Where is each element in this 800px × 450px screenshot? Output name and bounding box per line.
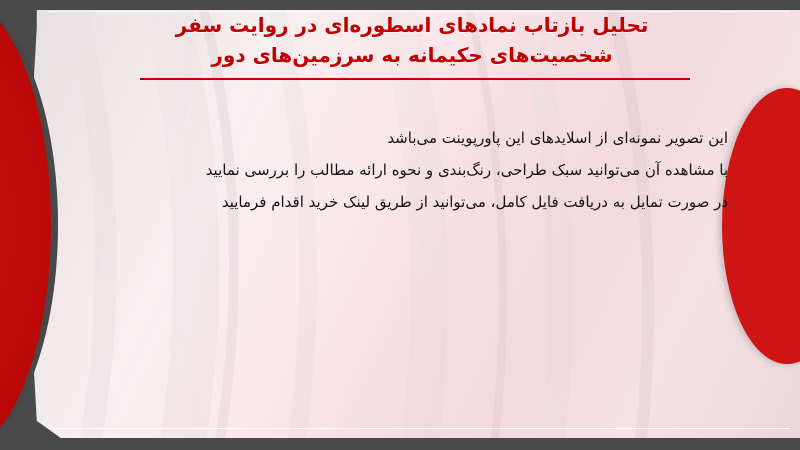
- title-line-1: تحلیل بازتاب نمادهای اسطوره‌ای در روایت …: [132, 10, 692, 40]
- slide-body-text: این تصویر نمونه‌ای از اسلایدهای این پاور…: [88, 122, 728, 218]
- title-line-2: شخصیت‌های حکیمانه به سرزمین‌های دور: [132, 40, 692, 70]
- body-line-1: این تصویر نمونه‌ای از اسلایدهای این پاور…: [88, 122, 728, 154]
- slide-background: [0, 10, 800, 438]
- body-line-3: در صورت تمایل به دریافت فایل کامل، می‌تو…: [88, 186, 728, 218]
- body-line-2: با مشاهده آن می‌توانید سبک طراحی، رنگ‌بن…: [88, 154, 728, 186]
- background-arc-pattern: [0, 10, 800, 438]
- slide-title: تحلیل بازتاب نمادهای اسطوره‌ای در روایت …: [132, 10, 692, 70]
- presentation-slide: تحلیل بازتاب نمادهای اسطوره‌ای در روایت …: [0, 0, 800, 450]
- title-underline-rule: [140, 78, 690, 80]
